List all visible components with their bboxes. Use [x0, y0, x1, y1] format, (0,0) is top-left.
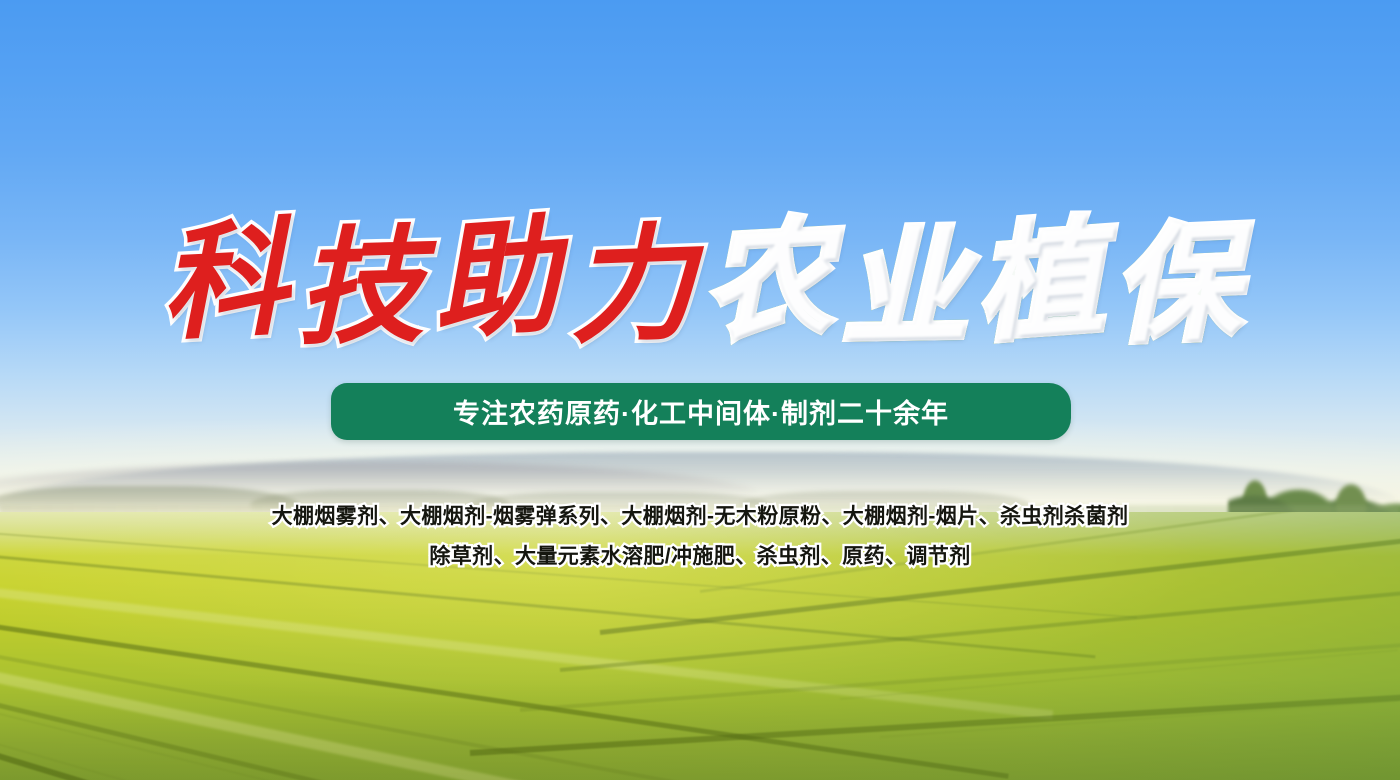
product-list: 大棚烟雾剂、大棚烟剂-烟雾弹系列、大棚烟剂-无木粉原粉、大棚烟剂-烟片、杀虫剂杀…	[0, 497, 1400, 577]
subtitle-text: 专注农药原药·化工中间体·制剂二十余年	[453, 392, 949, 431]
product-line-2: 除草剂、大量元素水溶肥/冲施肥、杀虫剂、原药、调节剂	[0, 537, 1400, 577]
hero-banner: 科 技 助 力 农 业 植 保 专注农药原药·化工中间体·制剂二十余年 大棚烟雾…	[0, 0, 1400, 780]
subtitle-banner: 专注农药原药·化工中间体·制剂二十余年	[331, 383, 1071, 440]
product-line-1: 大棚烟雾剂、大棚烟剂-烟雾弹系列、大棚烟剂-无木粉原粉、大棚烟剂-烟片、杀虫剂杀…	[0, 497, 1400, 537]
